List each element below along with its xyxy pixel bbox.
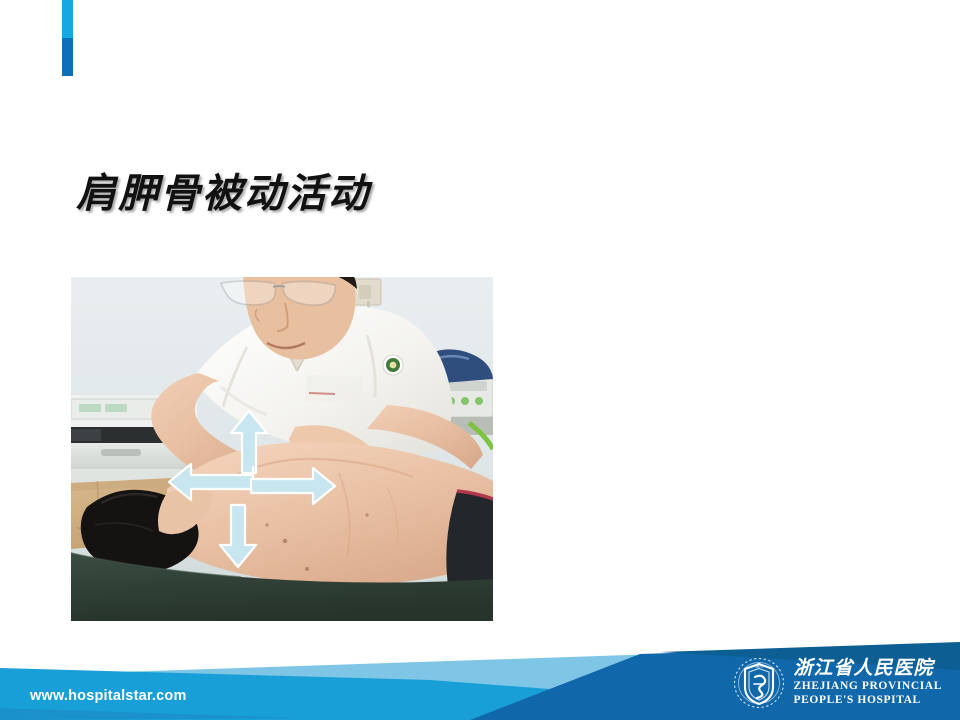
hospital-name-en-line2: PEOPLE'S HOSPITAL (794, 694, 942, 707)
hospital-shield-emblem-icon: 1875 (733, 657, 785, 709)
hospital-name-en-line1: ZHEJIANG PROVINCIAL (794, 680, 942, 693)
accent-bar-bottom-segment (62, 38, 73, 76)
footer-band: www.hospitalstar.com 1875 浙江省人民医院 ZHEJIA… (0, 630, 960, 720)
footer-website-url[interactable]: www.hospitalstar.com (30, 688, 187, 704)
hospital-logo: 1875 浙江省人民医院 ZHEJIANG PROVINCIAL PEOPLE'… (733, 657, 942, 709)
clinical-photo: Mobi (71, 277, 493, 621)
hospital-logo-text: 浙江省人民医院 ZHEJIANG PROVINCIAL PEOPLE'S HOS… (794, 659, 942, 707)
decorative-accent-bar (62, 0, 73, 76)
slide-title: 肩胛骨被动活动 (76, 172, 370, 216)
accent-bar-top-segment (62, 0, 73, 38)
hospital-name-cn: 浙江省人民医院 (794, 659, 942, 679)
clinical-photo-image: Mobi (71, 277, 493, 621)
svg-text:1875: 1875 (755, 665, 763, 669)
